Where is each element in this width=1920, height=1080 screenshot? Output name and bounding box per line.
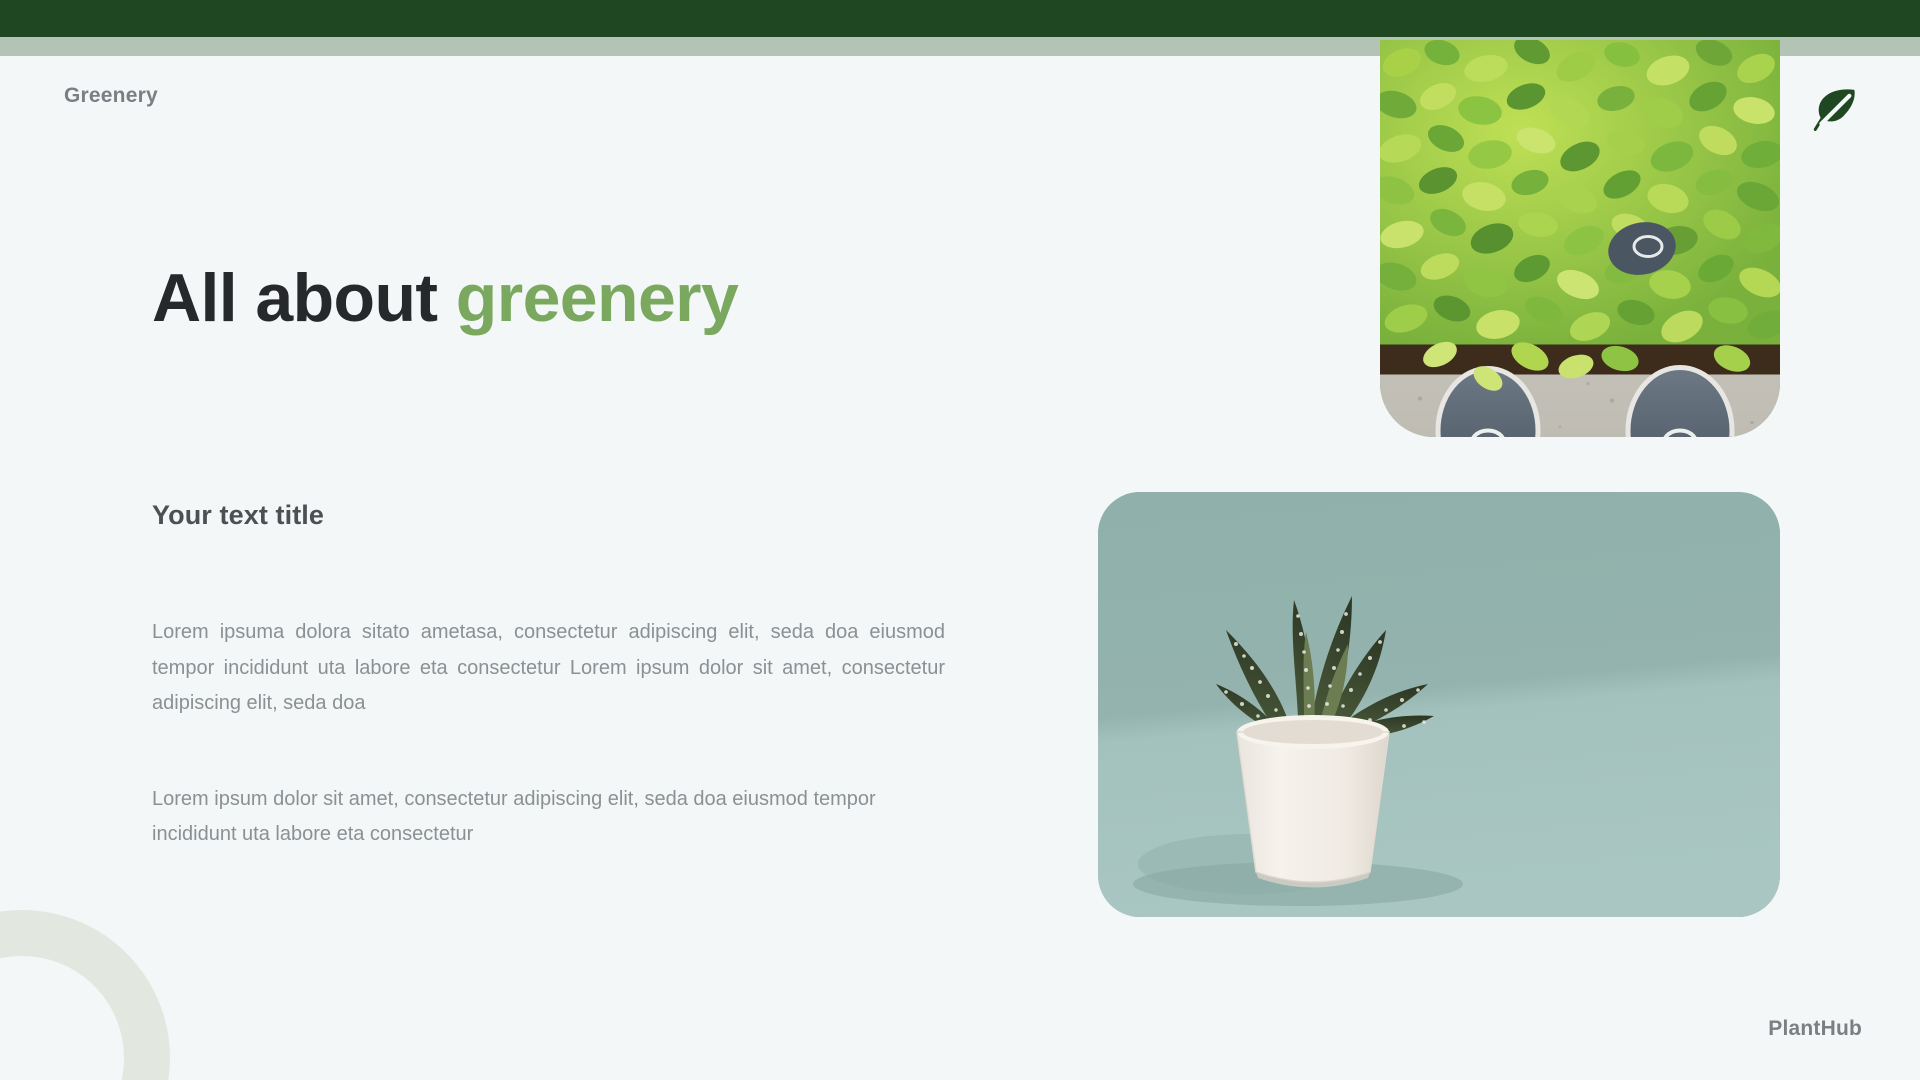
section-subtitle: Your text title (152, 500, 945, 531)
text-column: Your text title Lorem ipsuma dolora sita… (152, 500, 945, 853)
leaf-icon (1808, 84, 1862, 138)
body-paragraph-2: Lorem ipsum dolor sit amet, consectetur … (152, 782, 945, 853)
photo-green-foliage-with-sneakers (1380, 40, 1780, 437)
slide-canvas: Greenery All about greenery Your text ti… (0, 0, 1920, 1080)
headline-lead: All about (152, 260, 456, 336)
headline: All about greenery (152, 263, 738, 334)
footer-brand: PlantHub (1768, 1017, 1862, 1041)
quarter-ring-decoration (0, 910, 170, 1080)
body-paragraph-1: Lorem ipsuma dolora sitato ametasa, cons… (152, 615, 945, 722)
photo-potted-zebra-succulent (1098, 492, 1780, 917)
page-title: Greenery (64, 84, 158, 108)
top-dark-green-bar (0, 0, 1920, 37)
headline-accent: greenery (456, 260, 738, 336)
